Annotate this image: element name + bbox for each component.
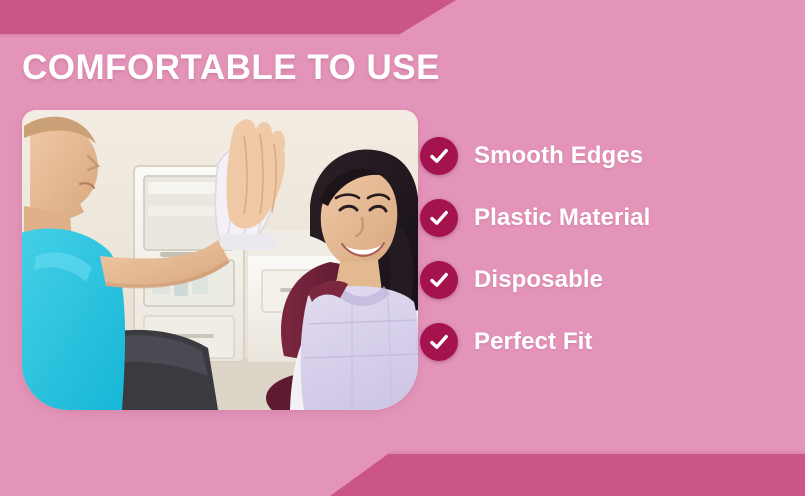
top-accent-band-shadow [0, 34, 400, 38]
list-item[interactable]: Disposable [420, 258, 790, 302]
check-icon [420, 323, 458, 361]
check-icon [420, 137, 458, 175]
clinic-photo-illustration [22, 110, 418, 410]
page-title: COMFORTABLE TO USE [22, 48, 440, 88]
check-icon [420, 261, 458, 299]
list-item[interactable]: Smooth Edges [420, 134, 790, 178]
check-icon [420, 199, 458, 237]
list-item-label: Plastic Material [474, 204, 650, 232]
top-accent-band [0, 0, 456, 34]
bottom-accent-band-shadow [388, 450, 805, 454]
list-item-label: Smooth Edges [474, 142, 643, 170]
list-item[interactable]: Perfect Fit [420, 320, 790, 364]
list-item-label: Disposable [474, 266, 603, 294]
feature-list: Smooth Edges Plastic Material Disposable [420, 134, 790, 364]
clinic-photo [22, 110, 418, 410]
bottom-accent-band [330, 454, 805, 496]
list-item[interactable]: Plastic Material [420, 196, 790, 240]
list-item-label: Perfect Fit [474, 328, 592, 356]
slide-canvas: COMFORTABLE TO USE [0, 0, 805, 496]
